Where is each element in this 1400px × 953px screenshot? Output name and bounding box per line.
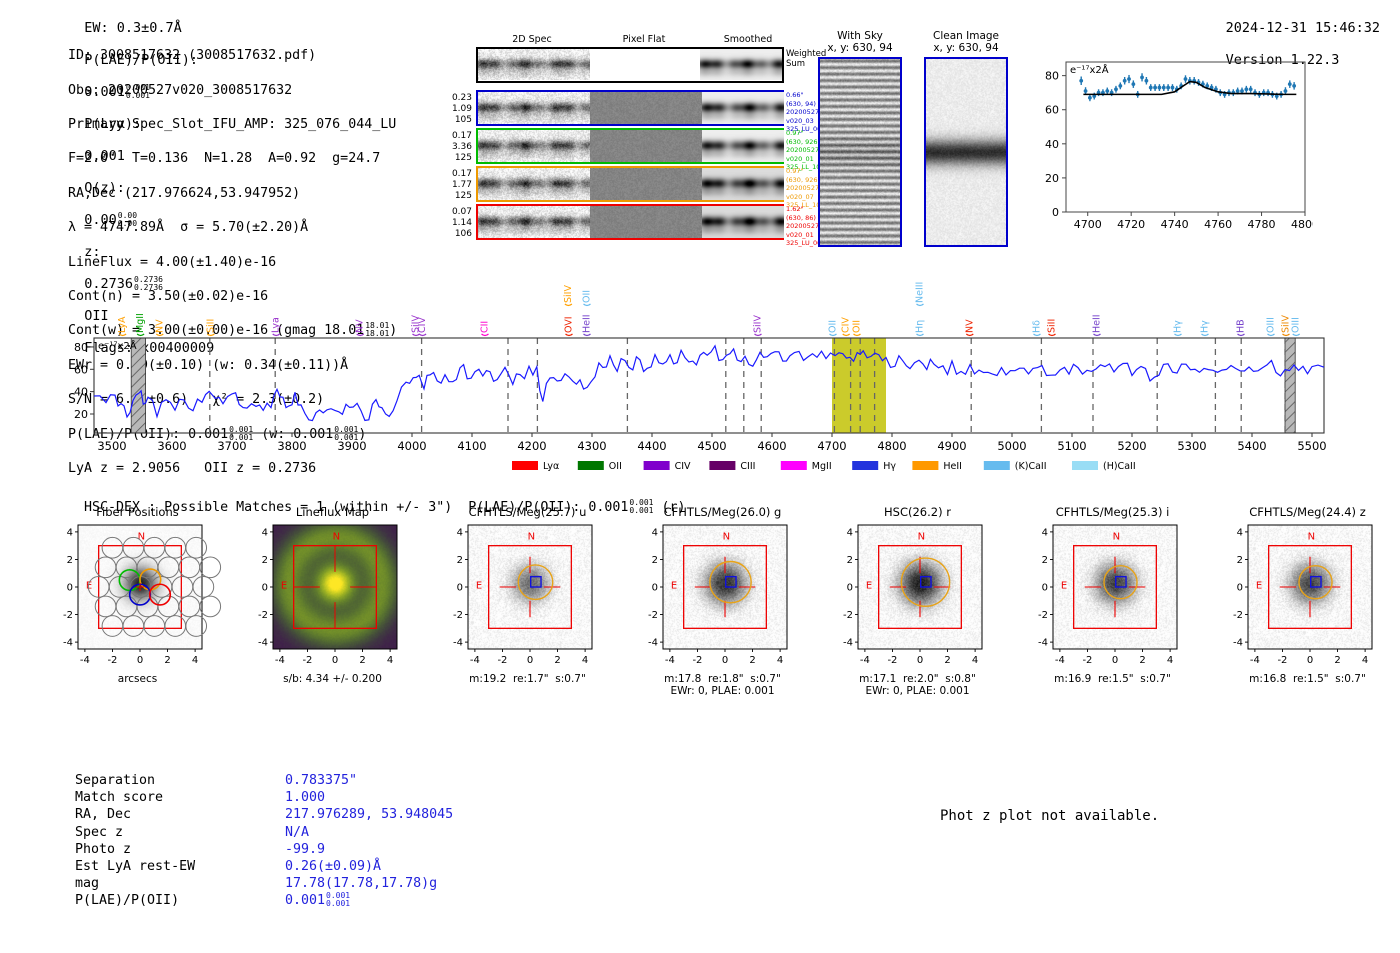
svg-text:5200: 5200	[1117, 439, 1146, 453]
svg-text:0: 0	[917, 655, 923, 666]
svg-text:-2: -2	[1038, 610, 1048, 621]
svg-text:4720: 4720	[1117, 218, 1145, 231]
match-table-value: 0.26(±0.09)Å	[285, 859, 381, 874]
svg-text:HeII: HeII	[943, 461, 962, 472]
fiber-row-stats: 0.071.14106	[432, 207, 472, 240]
emission-line-label: CIV	[417, 317, 428, 336]
svg-text:OIII: OIII	[1291, 317, 1302, 333]
cutout-svg: NE-4-4-2-2002244	[1210, 519, 1400, 671]
weighted-sum-pixelflat-blank	[590, 49, 700, 80]
info-radec: RA,Dec (217.976624,53.947952)	[68, 185, 397, 202]
emission-line-label: Hη	[915, 320, 926, 336]
emission-line-label: HeII	[582, 314, 593, 335]
emission-line-label: HB	[1236, 319, 1247, 335]
svg-text:2: 2	[67, 555, 73, 566]
match-table-row: Est LyA rest-EW0.26(±0.09)Å	[75, 858, 453, 875]
svg-text:4: 4	[457, 527, 463, 538]
cutout-caption-primary: m:16.9 re:1.5" s:0.7"	[1015, 673, 1210, 685]
svg-text:4: 4	[1167, 655, 1173, 666]
cutout-thumbnail-row: Fiber PositionsNE-4-4-2-2002244arcsecsLi…	[40, 505, 1400, 697]
svg-text:-2: -2	[887, 655, 897, 666]
emission-line-label: OII	[582, 290, 593, 306]
spectrum-unit-label: e⁻¹⁷x2Å	[98, 339, 137, 352]
svg-text:OVI: OVI	[564, 316, 575, 333]
match-table-value: 17.78(17.78,17.78)g	[285, 876, 437, 891]
info-primary-spec: Primary Spec_Slot_IFU_AMP: 325_076_044_L…	[68, 116, 397, 133]
cutout-svg: NE-4-4-2-2002244	[625, 519, 820, 671]
emission-line-label: Hγ	[1200, 320, 1211, 336]
sky-panel-with-sky: With Skyx, y: 630, 94	[818, 30, 902, 247]
svg-text:HB: HB	[1236, 319, 1247, 333]
fiber-row-stats: 0.231.09105	[432, 93, 472, 126]
svg-text:OIII: OIII	[1266, 317, 1277, 333]
svg-text:-4: -4	[843, 638, 853, 649]
north-label: N	[723, 531, 730, 542]
match-table-row: Separation0.783375"	[75, 772, 453, 789]
match-table-value: -99.9	[285, 842, 325, 857]
svg-text:-2: -2	[692, 655, 702, 666]
line-fit-inset-plot: 470047204740476047804800020406080e⁻¹⁷x2Å	[1028, 44, 1313, 248]
emission-line-label: SiII	[205, 319, 216, 336]
info-lambda: λ = 4747.89Å σ = 5.70(±2.20)Å	[68, 219, 397, 236]
svg-text:4740: 4740	[1161, 218, 1189, 231]
spectrum-legend-item: Hγ	[852, 461, 896, 472]
match-table-value: 0.001	[285, 893, 325, 908]
north-label: N	[333, 531, 340, 542]
svg-text:5300: 5300	[1177, 439, 1206, 453]
svg-text:3900: 3900	[337, 439, 366, 453]
cutout-title: Lineflux Map	[235, 505, 430, 519]
cutout-panel: HSC(26.2) rNE-4-4-2-2002244m:17.1 re:2.0…	[820, 505, 1015, 697]
svg-text:OII: OII	[828, 320, 839, 333]
sky-panel-image	[818, 57, 902, 247]
spectrum-legend-item: CIV	[644, 461, 691, 472]
svg-text:0: 0	[262, 583, 268, 594]
svg-text:-2: -2	[497, 655, 507, 666]
svg-text:4800: 4800	[877, 439, 906, 453]
north-label: N	[528, 531, 535, 542]
svg-text:CIV: CIV	[675, 461, 691, 472]
svg-text:-2: -2	[1082, 655, 1092, 666]
cutout-caption-primary: arcsecs	[40, 673, 235, 685]
svg-text:HeII: HeII	[1092, 314, 1103, 333]
cutout-caption-primary: m:17.1 re:2.0" s:0.8"	[820, 673, 1015, 685]
cutout-svg: NE-4-4-2-2002244	[430, 519, 625, 671]
sky-panel-title: With Sky	[818, 30, 902, 42]
svg-text:SiII: SiII	[205, 319, 216, 333]
svg-text:0: 0	[1237, 583, 1243, 594]
cutout-panel: Fiber PositionsNE-4-4-2-2002244arcsecs	[40, 505, 235, 697]
svg-text:Lya: Lya	[271, 317, 282, 333]
cutout-svg: NE-4-4-2-2002244	[235, 519, 430, 671]
inset-unit-label: e⁻¹⁷x2Å	[1070, 63, 1109, 76]
emission-line-label: OII	[828, 320, 839, 336]
svg-text:0: 0	[67, 583, 73, 594]
cutout-title: CFHTLS/Meg(25.3) i	[1015, 505, 1210, 519]
north-label: N	[1308, 531, 1315, 542]
match-table-row: RA, Dec217.976289, 53.948045	[75, 806, 453, 823]
emission-line-label: HeII	[1092, 314, 1103, 335]
match-table-row: Photo z-99.9	[75, 841, 453, 858]
svg-text:4300: 4300	[577, 439, 606, 453]
emission-line-label: CIV	[841, 317, 852, 336]
match-table-key: Est LyA rest-EW	[75, 858, 285, 875]
svg-text:-2: -2	[302, 655, 312, 666]
sky-cutout-panels: With Skyx, y: 630, 94Clean Imagex, y: 63…	[818, 30, 1008, 247]
svg-text:-4: -4	[665, 655, 675, 666]
spectrum-trace	[94, 346, 1324, 421]
fiber-circle	[200, 596, 221, 617]
cutout-title: CFHTLS/Meg(24.4) z	[1210, 505, 1400, 519]
photz-unavailable-note: Phot z plot not available.	[940, 808, 1159, 824]
spec2d-mosaic: 2D SpecPixel FlatSmoothedWeighted Sum0.2…	[432, 34, 762, 241]
svg-text:-4: -4	[470, 655, 480, 666]
svg-text:CIII: CIII	[740, 461, 755, 472]
emission-line-label: OIII	[1266, 317, 1277, 335]
svg-text:SiIV: SiIV	[753, 315, 764, 333]
svg-text:2: 2	[554, 655, 560, 666]
svg-text:0: 0	[527, 655, 533, 666]
svg-text:-4: -4	[1233, 638, 1243, 649]
spectrum-highlight-band	[832, 338, 886, 433]
svg-text:2: 2	[359, 655, 365, 666]
cutout-caption-primary: m:17.8 re:1.8" s:0.7"	[625, 673, 820, 685]
svg-text:NeIII: NeIII	[915, 282, 926, 303]
svg-text:0: 0	[652, 583, 658, 594]
svg-text:OII: OII	[582, 290, 593, 303]
svg-text:4: 4	[262, 527, 268, 538]
info-seeing: F=2.0" T=0.136 N=1.28 A=0.92 g=24.7	[68, 150, 397, 167]
spec2d-column-titles: 2D SpecPixel FlatSmoothed	[476, 34, 806, 47]
svg-text:0: 0	[332, 655, 338, 666]
svg-text:-2: -2	[648, 610, 658, 621]
svg-text:-4: -4	[453, 638, 463, 649]
match-table-key: Spec z	[75, 824, 285, 841]
svg-text:2: 2	[652, 555, 658, 566]
spectrum-legend-item: OII	[578, 461, 622, 472]
svg-text:60: 60	[74, 363, 88, 376]
svg-text:4700: 4700	[817, 439, 846, 453]
match-table-value: N/A	[285, 825, 309, 840]
emission-line-label: SiII	[1047, 319, 1058, 336]
sky-panel-image	[924, 57, 1008, 247]
spectrum-masked-band	[1285, 338, 1295, 433]
svg-text:-4: -4	[258, 638, 268, 649]
emission-line-label: OII	[852, 320, 863, 336]
svg-text:Hγ: Hγ	[883, 461, 896, 472]
full-spectrum-panel: 2040608035003600370038003900400041004200…	[60, 270, 1330, 483]
svg-text:-2: -2	[107, 655, 117, 666]
svg-text:4: 4	[1237, 527, 1243, 538]
emission-line-label: OIII	[1291, 317, 1302, 335]
spectrum-legend-item: Lyα	[512, 461, 559, 472]
spectrum-legend-item: (K)CaII	[984, 461, 1047, 472]
spec2d-col-title-0: 2D Spec	[482, 34, 582, 45]
emission-line-label: MgII	[135, 313, 146, 335]
spec2d-col-title-2: Smoothed	[698, 34, 798, 45]
cutout-svg: NE-4-4-2-2002244	[820, 519, 1015, 671]
north-label: N	[918, 531, 925, 542]
svg-text:5000: 5000	[997, 439, 1026, 453]
info-id: ID: 3008517632 (3008517632.pdf)	[68, 47, 397, 64]
match-table-value-range: 0.0010.001	[326, 892, 350, 908]
svg-text:MgII: MgII	[135, 313, 146, 333]
fiber-row-stats: 0.173.36125	[432, 131, 472, 164]
svg-text:2: 2	[457, 555, 463, 566]
match-table-value: 217.976289, 53.948045	[285, 807, 453, 822]
svg-text:2: 2	[847, 555, 853, 566]
emission-line-label: NV	[154, 319, 165, 336]
match-table-row: mag17.78(17.78,17.78)g	[75, 875, 453, 892]
svg-text:0: 0	[457, 583, 463, 594]
svg-text:4780: 4780	[1248, 218, 1276, 231]
svg-text:Hη: Hη	[915, 320, 926, 333]
svg-text:3800: 3800	[277, 439, 306, 453]
svg-text:4: 4	[652, 527, 658, 538]
svg-text:4100: 4100	[457, 439, 486, 453]
spec2d-weighted-sum-row: Weighted Sum	[476, 47, 806, 87]
svg-text:(H)CaII: (H)CaII	[1103, 461, 1136, 472]
sky-panel-title: Clean Image	[924, 30, 1008, 42]
spectrum-masked-band	[131, 338, 145, 433]
svg-text:2: 2	[262, 555, 268, 566]
svg-text:-4: -4	[1038, 638, 1048, 649]
svg-text:2: 2	[1237, 555, 1243, 566]
fiber-row-stats: 0.171.77125	[432, 169, 472, 202]
match-table-key: P(LAE)/P(OII)	[75, 892, 285, 909]
svg-text:SiIV: SiIV	[563, 285, 574, 303]
cutout-title: Fiber Positions	[40, 505, 235, 519]
svg-text:0: 0	[1307, 655, 1313, 666]
svg-text:LyA: LyA	[117, 316, 128, 333]
emission-line-label: NeIII	[915, 282, 926, 306]
svg-text:2: 2	[1139, 655, 1145, 666]
fiber-strip-box	[476, 128, 784, 164]
svg-text:20: 20	[1045, 172, 1059, 185]
emission-line-label: CII	[480, 321, 491, 336]
east-label: E	[476, 580, 482, 591]
cutout-panel: CFHTLS/Meg(24.4) zNE-4-4-2-2002244m:16.8…	[1210, 505, 1400, 697]
svg-text:4200: 4200	[517, 439, 546, 453]
info-obs: Obs: 20200527v020_3008517632	[68, 82, 397, 99]
emission-line-label: Lya	[271, 317, 282, 335]
svg-text:4700: 4700	[1074, 218, 1102, 231]
emission-line-label: LyA	[117, 316, 128, 336]
inset-fit-svg: 470047204740476047804800020406080e⁻¹⁷x2Å	[1028, 44, 1313, 244]
svg-text:Lyα: Lyα	[543, 461, 559, 472]
cutout-title: CFHTLS/Meg(25.7) u	[430, 505, 625, 519]
spectrum-legend-item: HeII	[912, 461, 962, 472]
east-label: E	[671, 580, 677, 591]
svg-text:4: 4	[1042, 527, 1048, 538]
svg-text:4600: 4600	[757, 439, 786, 453]
cutout-panel: CFHTLS/Meg(25.3) iNE-4-4-2-2002244m:16.9…	[1015, 505, 1210, 697]
svg-text:NV: NV	[355, 319, 366, 333]
svg-text:OII: OII	[852, 320, 863, 333]
sky-panel-coords: x, y: 630, 94	[818, 42, 902, 54]
svg-text:4: 4	[972, 655, 978, 666]
svg-text:4900: 4900	[937, 439, 966, 453]
svg-text:2: 2	[1042, 555, 1048, 566]
svg-text:-4: -4	[648, 638, 658, 649]
svg-text:4760: 4760	[1204, 218, 1232, 231]
svg-text:4: 4	[387, 655, 393, 666]
match-table-value: 0.783375"	[285, 773, 357, 788]
spectrum-legend-item: MgII	[781, 461, 832, 472]
emission-line-label: Hγ	[1173, 320, 1184, 336]
match-table-row: Spec zN/A	[75, 824, 453, 841]
spec2d-fiber-row: 0.173.361250.97"(630, 926)20200527v020_0…	[432, 128, 762, 165]
svg-text:4: 4	[192, 655, 198, 666]
svg-text:2: 2	[1334, 655, 1340, 666]
svg-text:4: 4	[67, 527, 73, 538]
match-table-key: Photo z	[75, 841, 285, 858]
svg-text:-4: -4	[63, 638, 73, 649]
svg-text:4: 4	[1362, 655, 1368, 666]
north-label: N	[1113, 531, 1120, 542]
spec2d-fiber-row: 0.171.771250.97"(630, 926)20200527v020_0…	[432, 166, 762, 203]
svg-text:2: 2	[749, 655, 755, 666]
sky-panel-coords: x, y: 630, 94	[924, 42, 1008, 54]
svg-text:-2: -2	[1233, 610, 1243, 621]
svg-text:3600: 3600	[157, 439, 186, 453]
cutout-panel: CFHTLS/Meg(25.7) uNE-4-4-2-2002244m:19.2…	[430, 505, 625, 697]
svg-text:0: 0	[1112, 655, 1118, 666]
spectrum-legend-item: CIII	[709, 461, 755, 472]
info-lineflux: LineFlux = 4.00(±1.40)e-16	[68, 254, 397, 271]
cutout-caption-primary: m:19.2 re:1.7" s:0.7"	[430, 673, 625, 685]
east-label: E	[1061, 580, 1067, 591]
svg-text:-2: -2	[453, 610, 463, 621]
svg-text:20: 20	[74, 408, 88, 421]
svg-text:Hγ: Hγ	[1173, 320, 1184, 333]
svg-text:3500: 3500	[97, 439, 126, 453]
svg-text:MgII: MgII	[812, 461, 832, 472]
svg-text:4000: 4000	[397, 439, 426, 453]
svg-text:0: 0	[722, 655, 728, 666]
cutout-caption-secondary: EWr: 0, PLAE: 0.001	[625, 685, 820, 697]
svg-text:CII: CII	[480, 321, 491, 333]
cutout-caption-primary: m:16.8 re:1.5" s:0.7"	[1210, 673, 1400, 685]
emission-line-label: Hδ	[1032, 320, 1043, 336]
svg-text:80: 80	[74, 341, 88, 354]
svg-text:-2: -2	[843, 610, 853, 621]
svg-text:2: 2	[164, 655, 170, 666]
match-table-key: RA, Dec	[75, 806, 285, 823]
svg-text:5100: 5100	[1057, 439, 1086, 453]
cutout-title: CFHTLS/Meg(26.0) g	[625, 505, 820, 519]
svg-text:-4: -4	[1250, 655, 1260, 666]
svg-text:Hδ: Hδ	[1032, 320, 1043, 333]
match-table-row: Match score1.000	[75, 789, 453, 806]
match-table-value: 1.000	[285, 790, 325, 805]
svg-text:60: 60	[1045, 104, 1059, 117]
emission-line-label: NV	[964, 319, 975, 336]
svg-text:0: 0	[137, 655, 143, 666]
svg-text:0: 0	[847, 583, 853, 594]
svg-text:HeII: HeII	[582, 314, 593, 333]
east-label: E	[281, 580, 287, 591]
cutout-svg: NE-4-4-2-2002244	[1015, 519, 1210, 671]
fiber-strip-box	[476, 204, 784, 240]
cutout-caption-primary: s/b: 4.34 +/- 0.200	[235, 673, 430, 685]
svg-text:4: 4	[582, 655, 588, 666]
spec2d-fiber-row: 0.231.091050.66"(630, 94)20200527v020_03…	[432, 90, 762, 127]
svg-text:4: 4	[777, 655, 783, 666]
svg-text:80: 80	[1045, 70, 1059, 83]
svg-text:Hγ: Hγ	[1200, 320, 1211, 333]
svg-text:SiII: SiII	[1047, 319, 1058, 333]
svg-text:-4: -4	[80, 655, 90, 666]
svg-text:-4: -4	[275, 655, 285, 666]
svg-text:40: 40	[74, 386, 88, 399]
svg-text:3700: 3700	[217, 439, 246, 453]
svg-text:-4: -4	[1055, 655, 1065, 666]
emission-line-label: SiIV	[753, 315, 764, 336]
match-table-key: Separation	[75, 772, 285, 789]
svg-text:(K)CaII: (K)CaII	[1015, 461, 1047, 472]
svg-text:NV: NV	[964, 319, 975, 333]
svg-text:5500: 5500	[1297, 439, 1326, 453]
svg-text:OII: OII	[609, 461, 622, 472]
svg-text:4400: 4400	[637, 439, 666, 453]
svg-text:2: 2	[944, 655, 950, 666]
svg-text:CIV: CIV	[417, 317, 428, 333]
cutout-panel: Lineflux MapNE-4-4-2-2002244s/b: 4.34 +/…	[235, 505, 430, 697]
svg-text:0: 0	[1052, 206, 1059, 219]
header-timestamp: 2024-12-31 15:46:32	[1226, 20, 1380, 36]
sky-panel-clean-image: Clean Imagex, y: 630, 94	[924, 30, 1008, 247]
cutout-title: HSC(26.2) r	[820, 505, 1015, 519]
spec2d-fiber-row: 0.071.141061.62"(630, 86)20200527v020_01…	[432, 204, 762, 241]
weighted-sum-strip	[476, 47, 784, 83]
match-table-row: P(LAE)/P(OII)0.0010.0010.001	[75, 892, 453, 909]
svg-text:4800: 4800	[1291, 218, 1313, 231]
emission-line-label: OVI	[564, 316, 575, 335]
emission-line-label: SiIV	[563, 285, 574, 306]
svg-text:4: 4	[847, 527, 853, 538]
east-label: E	[1256, 580, 1262, 591]
svg-text:-2: -2	[258, 610, 268, 621]
fiber-strip-box	[476, 90, 784, 126]
svg-text:4500: 4500	[697, 439, 726, 453]
svg-text:-4: -4	[860, 655, 870, 666]
spec2d-col-title-1: Pixel Flat	[594, 34, 694, 45]
fiber-strip-box	[476, 166, 784, 202]
svg-text:-2: -2	[63, 610, 73, 621]
cutout-panel: CFHTLS/Meg(26.0) gNE-4-4-2-2002244m:17.8…	[625, 505, 820, 697]
full-spectrum-svg: 2040608035003600370038003900400041004200…	[60, 270, 1330, 479]
svg-text:NV: NV	[154, 319, 165, 333]
match-table-key: Match score	[75, 789, 285, 806]
svg-text:40: 40	[1045, 138, 1059, 151]
emission-line-label: NV	[355, 319, 366, 336]
spectrum-legend-item: (H)CaII	[1072, 461, 1136, 472]
fiber-circle	[200, 557, 221, 578]
match-detail-table: Separation0.783375"Match score1.000RA, D…	[75, 772, 453, 910]
cutout-svg: NE-4-4-2-2002244	[40, 519, 235, 671]
svg-text:5400: 5400	[1237, 439, 1266, 453]
match-table-key: mag	[75, 875, 285, 892]
svg-text:-2: -2	[1277, 655, 1287, 666]
svg-text:0: 0	[1042, 583, 1048, 594]
east-label: E	[866, 580, 872, 591]
cutout-caption-secondary: EWr: 0, PLAE: 0.001	[820, 685, 1015, 697]
svg-text:CIV: CIV	[841, 317, 852, 333]
